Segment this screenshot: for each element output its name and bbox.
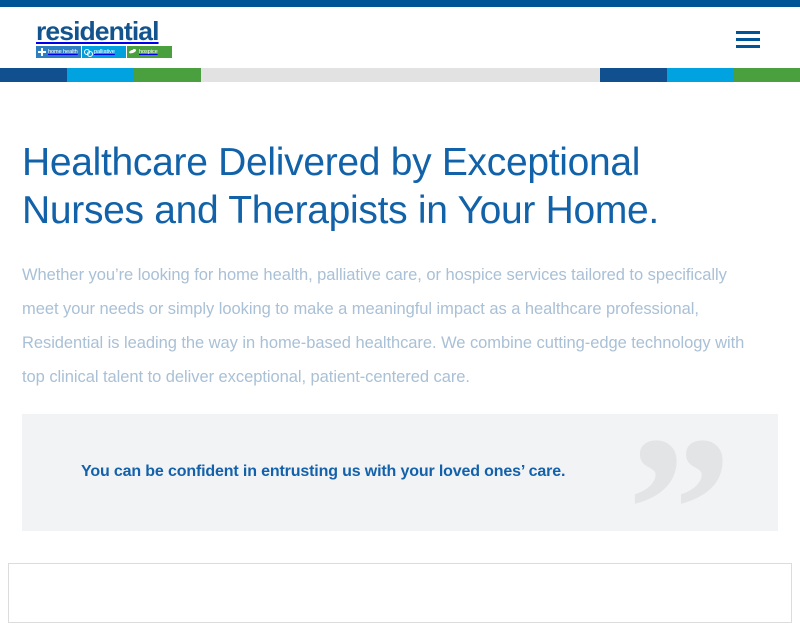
hamburger-bar-middle [736,38,760,41]
logo-badge-hospice: hospice [127,46,172,58]
dove-icon [129,48,138,57]
hamburger-bar-top [736,31,760,34]
pull-quote-text: You can be confident in entrusting us wi… [81,463,741,481]
logo-badge-home-health: home health [36,46,81,58]
stripe-left-blue [0,68,67,82]
hamburger-bar-bottom [736,45,760,48]
logo-badge-palliative: palliative [82,46,126,58]
site-logo[interactable]: residential home health palliative hospi… [36,18,172,58]
logo-wordmark: residential [36,18,175,44]
stripe-left-green [134,68,201,82]
brand-stripe-band [0,68,800,82]
stripe-left-lightblue [67,68,134,82]
hamburger-menu-icon[interactable] [736,31,760,49]
logo-service-badges: home health palliative hospice [36,46,172,58]
stripe-right-blue [600,68,667,82]
stripe-right-green [734,68,800,82]
medical-cross-icon [38,48,47,57]
caring-hands-icon [84,48,93,57]
intro-paragraph: Whether you’re looking for home health, … [22,258,764,394]
page-headline: Healthcare Delivered by Exceptional Nurs… [22,139,772,235]
site-header: residential home health palliative hospi… [0,7,800,68]
pull-quote-block: You can be confident in entrusting us wi… [22,414,778,531]
bottom-content-panel [8,563,792,623]
logo-badge-home-health-label: home health [48,49,78,55]
logo-badge-palliative-label: palliative [94,49,115,55]
top-accent-bar [0,0,800,7]
logo-badge-hospice-label: hospice [139,49,158,55]
stripe-right-lightblue [667,68,734,82]
